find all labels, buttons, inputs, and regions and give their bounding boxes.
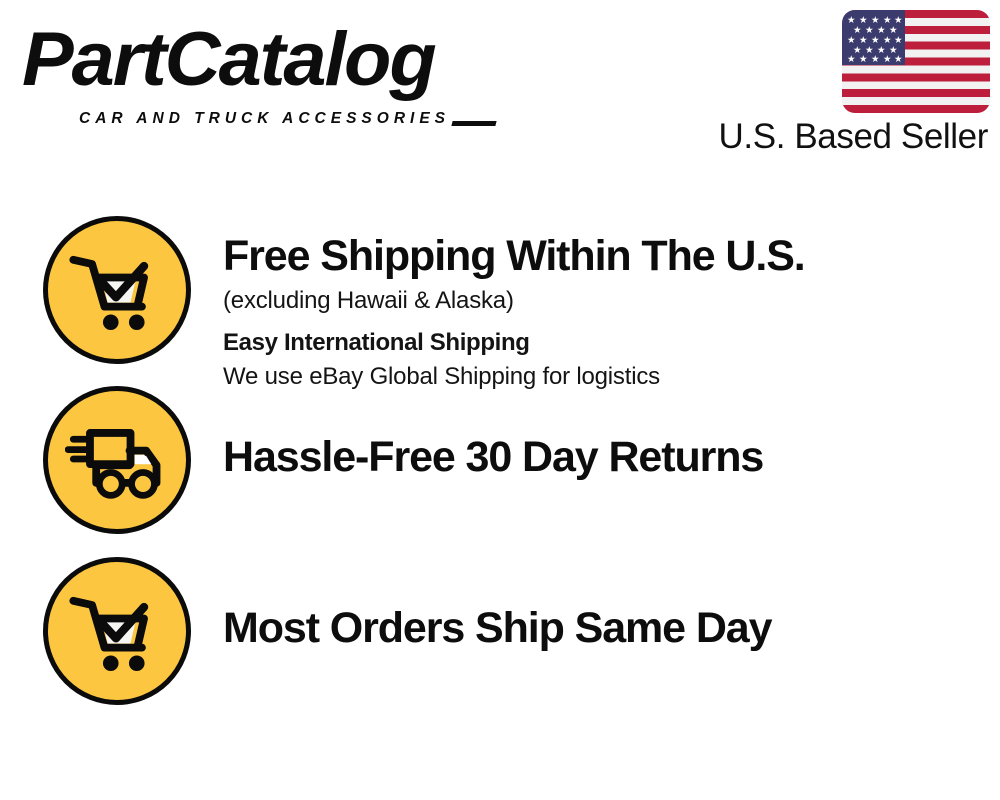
shopping-cart-check-icon: [43, 216, 191, 364]
us-flag-icon: ★ ★ ★ ★ ★ ★ ★ ★ ★ ★ ★ ★ ★ ★ ★ ★ ★ ★ ★ ★: [842, 10, 990, 113]
flag-stars: ★ ★ ★ ★ ★ ★ ★ ★ ★ ★ ★ ★ ★ ★ ★ ★ ★ ★ ★ ★: [842, 10, 990, 113]
page-header: PartCatalog CAR AND TRUCK ACCESSORIES ★ …: [0, 0, 1000, 175]
shopping-cart-check-icon: [43, 557, 191, 705]
feature-row: Hassle-Free 30 Day Returns: [0, 385, 1000, 555]
promo-banner-page: { "brand": { "wordmark": "PartCatalog", …: [0, 0, 1000, 800]
brand-underline-dash: [451, 121, 496, 126]
us-based-seller-label: U.S. Based Seller: [719, 117, 988, 157]
feature-text-block: Hassle-Free 30 Day Returns: [223, 385, 1000, 482]
brand-wordmark: PartCatalog: [22, 22, 435, 98]
feature-title: Most Orders Ship Same Day: [223, 603, 1000, 653]
feature-title: Free Shipping Within The U.S.: [223, 231, 1000, 281]
us-based-seller-badge: ★ ★ ★ ★ ★ ★ ★ ★ ★ ★ ★ ★ ★ ★ ★ ★ ★ ★ ★ ★: [842, 10, 990, 113]
feature-row: Most Orders Ship Same Day: [0, 556, 1000, 726]
delivery-truck-icon: [43, 386, 191, 534]
feature-row: Free Shipping Within The U.S. (excluding…: [0, 215, 1000, 385]
feature-subtitle-international: Easy International Shipping: [223, 327, 1000, 359]
feature-title: Hassle-Free 30 Day Returns: [223, 432, 1000, 482]
feature-text-block: Most Orders Ship Same Day: [223, 556, 1000, 653]
feature-subtitle-exclusions: (excluding Hawaii & Alaska): [223, 285, 1000, 317]
feature-text-block: Free Shipping Within The U.S. (excluding…: [223, 215, 1000, 393]
brand-tagline: CAR AND TRUCK ACCESSORIES: [79, 110, 450, 127]
brand-logo[interactable]: PartCatalog CAR AND TRUCK ACCESSORIES: [22, 22, 492, 117]
